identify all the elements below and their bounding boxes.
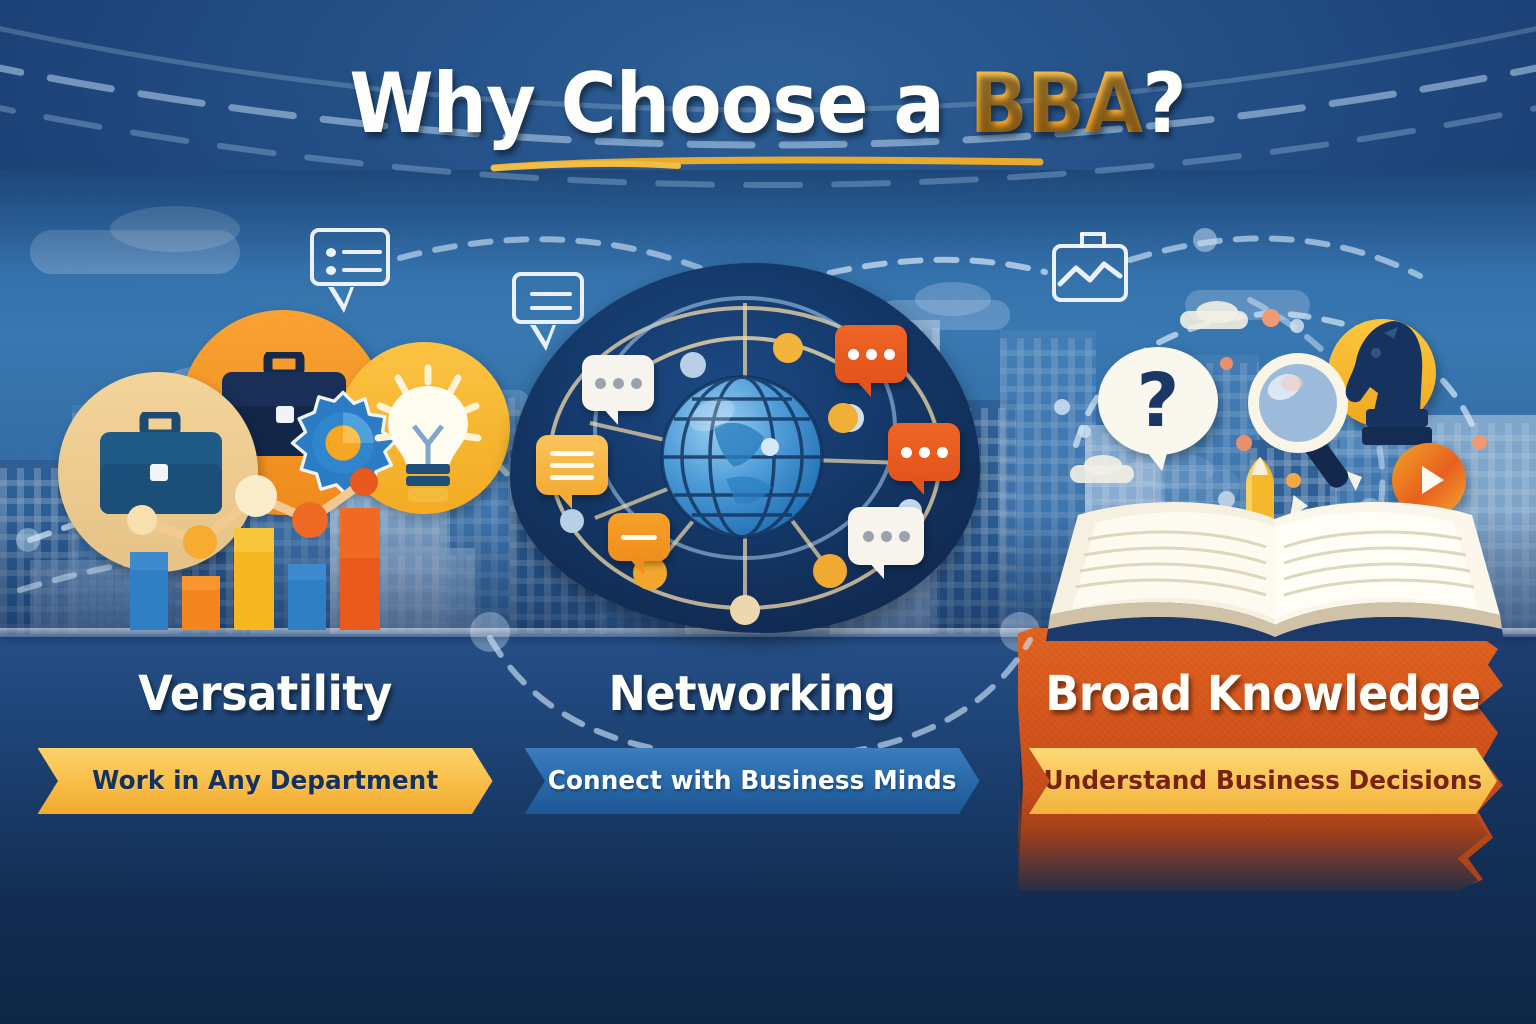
- page-title: Why Choose a BBA?: [350, 62, 1186, 145]
- line-chart-icon: [110, 460, 400, 600]
- chat-bubble-icon: [848, 507, 924, 565]
- column-heading: Broad Knowledge: [1035, 640, 1491, 722]
- networking-icon-cluster: [500, 255, 1030, 640]
- cloud-icon: [1084, 455, 1122, 475]
- title-underline-swoosh: [488, 152, 1048, 174]
- ribbon-label: Connect with Business Minds: [548, 766, 957, 796]
- chat-bubble-icon: [835, 325, 907, 383]
- ribbon-banner-broad-knowledge[interactable]: Understand Business Decisions: [1029, 748, 1497, 814]
- versatility-icon-cluster: [40, 300, 460, 630]
- column-heading: Versatility: [37, 640, 493, 722]
- column-networking: Networking Connect with Business Minds: [507, 640, 997, 814]
- confetti-dot: [1220, 357, 1233, 370]
- column-broad-knowledge: Broad Knowledge Understand Business Deci…: [1018, 640, 1508, 814]
- ribbon-banner-versatility[interactable]: Work in Any Department: [38, 748, 493, 814]
- title-prefix: Why Choose a: [350, 55, 970, 152]
- message-bubble-outline-icon: [310, 228, 390, 286]
- confetti-dot: [1290, 319, 1304, 333]
- column-heading: Networking: [524, 640, 980, 722]
- confetti-dot: [1472, 435, 1487, 450]
- broad-knowledge-icon-cluster: ?: [1040, 295, 1510, 640]
- confetti-dot: [1054, 399, 1070, 415]
- chat-bubble-icon: [536, 435, 608, 495]
- infographic-poster: Why Choose a BBA?: [0, 0, 1536, 1024]
- confetti-dot: [1078, 425, 1091, 438]
- title-suffix: ?: [1143, 55, 1186, 152]
- ribbon-banner-networking[interactable]: Connect with Business Minds: [525, 748, 980, 814]
- globe-icon: [660, 375, 825, 540]
- poster-title-block: Why Choose a BBA?: [0, 62, 1536, 145]
- chess-knight-icon: [1332, 313, 1442, 457]
- question-mark-glyph: ?: [1098, 347, 1218, 455]
- chart-briefcase-line-icon: [1052, 244, 1128, 302]
- ribbon-label: Understand Business Decisions: [1044, 766, 1483, 796]
- chat-bubble-icon: [608, 513, 670, 561]
- chat-bubble-icon: [582, 355, 654, 411]
- column-versatility: Versatility Work in Any Department: [20, 640, 510, 814]
- cloud-icon: [1196, 301, 1238, 323]
- title-highlight: BBA: [970, 55, 1143, 152]
- ribbon-label: Work in Any Department: [92, 766, 438, 796]
- chat-bubble-icon: [888, 423, 960, 481]
- open-book-icon: [1042, 483, 1508, 641]
- confetti-dot: [1262, 309, 1280, 327]
